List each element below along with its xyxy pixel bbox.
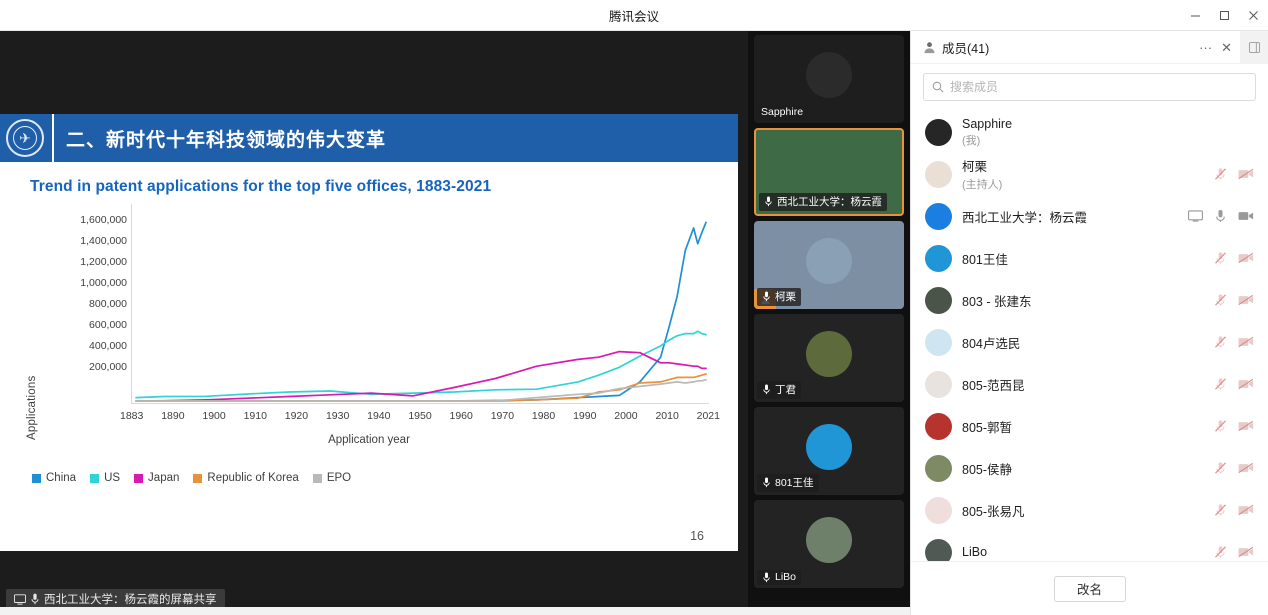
chart-figure: Applications 1,600,0001,400,0001,200,000…	[0, 204, 738, 514]
presentation-slide: ✈ 二、新时代十年科技领域的伟大变革 Trend in patent appli…	[0, 114, 738, 551]
participant-name: LiBo	[962, 545, 1204, 559]
chart-x-tick: 1900	[202, 410, 225, 422]
participant-name: Sapphire	[962, 117, 1244, 131]
dock-panel-icon	[1249, 42, 1260, 53]
participant-name: 805-范西昆	[962, 375, 1204, 394]
participant-status-icons	[1188, 209, 1254, 223]
legend-label: Japan	[148, 472, 179, 484]
minimize-button[interactable]	[1181, 0, 1210, 31]
video-tile-label: 西北工业大学：杨云霞	[777, 194, 882, 209]
screen-share-icon[interactable]	[1188, 210, 1203, 222]
participant-status-icons	[1214, 377, 1254, 391]
avatar	[806, 146, 852, 192]
microphone-icon[interactable]	[1214, 209, 1227, 223]
university-logo-icon: ✈	[6, 119, 44, 157]
participant-name-block: 803 - 张建东	[962, 291, 1204, 310]
camera-icon[interactable]	[1238, 210, 1254, 222]
video-tile-label: LiBo	[775, 571, 796, 583]
legend-item: EPO	[313, 472, 351, 484]
chart-y-tick: 200,000	[89, 357, 127, 378]
legend-item: US	[90, 472, 120, 484]
participant-row[interactable]: 805-张易凡	[911, 489, 1268, 531]
legend-label: Republic of Korea	[207, 472, 298, 484]
legend-item: Japan	[134, 472, 179, 484]
microphone-icon	[761, 572, 772, 583]
participant-status-icons	[1214, 503, 1254, 517]
legend-swatch-icon	[134, 474, 143, 483]
chart-y-tick: 1,600,000	[80, 210, 127, 231]
camera-muted-icon[interactable]	[1238, 420, 1254, 432]
microphone-muted-icon[interactable]	[1214, 167, 1227, 181]
camera-muted-icon[interactable]	[1238, 336, 1254, 348]
legend-swatch-icon	[193, 474, 202, 483]
participants-panel-footer: 改名	[911, 561, 1268, 615]
chart-x-tick: 1910	[244, 410, 267, 422]
participant-name: 805-郭暂	[962, 417, 1204, 436]
participant-status-icons	[1214, 167, 1254, 181]
camera-muted-icon[interactable]	[1238, 378, 1254, 390]
legend-label: EPO	[327, 472, 351, 484]
legend-swatch-icon	[313, 474, 322, 483]
window-controls	[1181, 0, 1268, 31]
legend-swatch-icon	[90, 474, 99, 483]
video-tile[interactable]: 柯栗	[754, 221, 904, 309]
microphone-icon	[761, 384, 772, 395]
slide-header-divider	[52, 114, 54, 162]
avatar	[925, 413, 952, 440]
chart-lines	[132, 204, 710, 403]
video-tile-name: Sapphire	[757, 105, 808, 120]
participant-name: 805-侯静	[962, 459, 1204, 478]
shared-screen-stage[interactable]: ✈ 二、新时代十年科技领域的伟大变革 Trend in patent appli…	[0, 31, 748, 615]
chart-y-tick: 400,000	[89, 336, 127, 357]
chart-y-tick: 1,200,000	[80, 252, 127, 273]
screen-share-icon	[14, 594, 26, 605]
participant-row[interactable]: 805-范西昆	[911, 363, 1268, 405]
chart-y-ticks: 1,600,0001,400,0001,200,0001,000,000800,…	[52, 210, 127, 378]
chart-x-tick: 1990	[573, 410, 596, 422]
participant-role: (主持人)	[962, 176, 1204, 192]
avatar	[925, 161, 952, 188]
chart-y-axis-label: Applications	[26, 376, 38, 440]
avatar	[925, 371, 952, 398]
participant-name-block: 805-张易凡	[962, 501, 1204, 520]
chart-series-line	[136, 352, 706, 401]
participants-panel-title: 成员(41)	[942, 38, 989, 57]
chart-plot-area	[131, 204, 709, 404]
avatar	[806, 517, 852, 563]
search-box[interactable]	[923, 73, 1256, 101]
chart-x-tick: 1883	[120, 410, 143, 422]
slide-page-number: 16	[690, 529, 704, 543]
avatar	[806, 238, 852, 284]
chart-y-tick: 1,400,000	[80, 231, 127, 252]
legend-label: US	[104, 472, 120, 484]
chart-x-tick: 2010	[655, 410, 678, 422]
video-tile[interactable]: LiBo	[754, 500, 904, 588]
slide-header: ✈ 二、新时代十年科技领域的伟大变革	[0, 114, 738, 162]
video-tile[interactable]: 801王佳	[754, 407, 904, 495]
chart-series-line	[136, 374, 706, 401]
close-button[interactable]	[1239, 0, 1268, 31]
participant-name: 西北工业大学：杨云霞	[962, 207, 1178, 226]
chart-y-tick: 1,000,000	[80, 273, 127, 294]
window-title: 腾讯会议	[609, 6, 659, 25]
microphone-icon	[31, 593, 39, 605]
microphone-icon	[761, 291, 772, 302]
chart-x-tick: 1950	[408, 410, 431, 422]
participant-row[interactable]: 801王佳	[911, 237, 1268, 279]
camera-muted-icon[interactable]	[1238, 504, 1254, 516]
microphone-muted-icon[interactable]	[1214, 503, 1227, 517]
microphone-muted-icon[interactable]	[1214, 251, 1227, 265]
chart-x-tick: 1980	[532, 410, 555, 422]
participants-panel-actions: ··· ✕	[1199, 41, 1232, 54]
chart-legend: ChinaUSJapanRepublic of KoreaEPO	[32, 472, 351, 484]
chart-x-tick: 1960	[450, 410, 473, 422]
participant-name-block: 西北工业大学：杨云霞	[962, 207, 1178, 226]
chart-x-axis-label: Application year	[0, 434, 738, 446]
participants-search-row	[911, 64, 1268, 107]
avatar	[806, 52, 852, 98]
video-tile-name: 丁君	[757, 381, 801, 399]
video-tile-name: 801王佳	[757, 474, 819, 492]
chart-y-tick: 800,000	[89, 294, 127, 315]
window-titlebar: 腾讯会议	[0, 0, 1268, 31]
participant-name: 804卢选民	[962, 333, 1204, 352]
people-icon	[923, 41, 936, 54]
microphone-muted-icon[interactable]	[1214, 377, 1227, 391]
chart-x-tick: 1970	[491, 410, 514, 422]
participant-name: 柯栗	[962, 156, 1204, 175]
participant-name-block: 801王佳	[962, 249, 1204, 268]
slide-header-title: 二、新时代十年科技领域的伟大变革	[66, 125, 386, 152]
participant-name: 803 - 张建东	[962, 291, 1204, 310]
search-input[interactable]	[950, 80, 1247, 94]
more-options-icon[interactable]: ···	[1199, 41, 1212, 54]
camera-muted-icon[interactable]	[1238, 462, 1254, 474]
participant-name-block: LiBo	[962, 545, 1204, 559]
legend-label: China	[46, 472, 76, 484]
microphone-muted-icon[interactable]	[1214, 293, 1227, 307]
participants-panel-header: 成员(41) ··· ✕	[911, 31, 1268, 64]
bottom-strip	[0, 607, 910, 615]
microphone-icon	[761, 477, 772, 488]
video-tile-name: 西北工业大学：杨云霞	[759, 193, 887, 211]
microphone-muted-icon[interactable]	[1214, 419, 1227, 433]
maximize-button[interactable]	[1210, 0, 1239, 31]
participant-row[interactable]: Sapphire(我)	[911, 111, 1268, 153]
avatar	[925, 539, 952, 562]
participant-row[interactable]: 805-侯静	[911, 447, 1268, 489]
participant-name: 801王佳	[962, 249, 1204, 268]
avatar	[806, 424, 852, 470]
avatar	[925, 119, 952, 146]
video-tile-name: 柯栗	[757, 288, 801, 306]
chart-x-tick: 1940	[367, 410, 390, 422]
panel-dock-button[interactable]	[1240, 31, 1268, 64]
avatar	[925, 245, 952, 272]
video-tile[interactable]: 丁君	[754, 314, 904, 402]
participant-row[interactable]: 西北工业大学：杨云霞	[911, 195, 1268, 237]
video-tile[interactable]: 西北工业大学：杨云霞	[754, 128, 904, 216]
participant-status-icons	[1214, 251, 1254, 265]
participant-status-icons	[1214, 335, 1254, 349]
participant-name-block: 805-侯静	[962, 459, 1204, 478]
participant-row[interactable]: 803 - 张建东	[911, 279, 1268, 321]
participant-status-icons	[1214, 293, 1254, 307]
video-tile-label: 801王佳	[775, 475, 814, 490]
chart-x-tick: 1930	[326, 410, 349, 422]
camera-muted-icon[interactable]	[1238, 294, 1254, 306]
chart-x-tick: 2021	[697, 410, 720, 422]
participant-row[interactable]: 804卢选民	[911, 321, 1268, 363]
video-tile-name: LiBo	[757, 570, 801, 585]
microphone-muted-icon[interactable]	[1214, 335, 1227, 349]
avatar	[925, 455, 952, 482]
avatar	[925, 497, 952, 524]
screen-share-status-text: 西北工业大学：杨云霞的屏幕共享	[44, 591, 217, 607]
microphone-icon	[763, 196, 774, 207]
participant-row[interactable]: 柯栗(主持人)	[911, 153, 1268, 195]
participant-name-block: 805-范西昆	[962, 375, 1204, 394]
participant-name-block: 柯栗(主持人)	[962, 156, 1204, 192]
participant-status-icons	[1214, 419, 1254, 433]
camera-muted-icon[interactable]	[1238, 252, 1254, 264]
video-tile-label: 柯栗	[775, 289, 796, 304]
chart-series-line	[136, 380, 706, 401]
video-tile-label: Sapphire	[761, 106, 803, 118]
participant-name-block: 804卢选民	[962, 333, 1204, 352]
chart-series-line	[136, 222, 706, 401]
panel-close-icon[interactable]: ✕	[1221, 41, 1232, 54]
participants-panel: 成员(41) ··· ✕ Sapphire(我)柯栗(主持人)西	[910, 31, 1268, 615]
participant-name-block: 805-郭暂	[962, 417, 1204, 436]
participant-name: 805-张易凡	[962, 501, 1204, 520]
meeting-workspace: ✈ 二、新时代十年科技领域的伟大变革 Trend in patent appli…	[0, 31, 1268, 615]
screen-share-status-bar: 西北工业大学：杨云霞的屏幕共享	[6, 589, 225, 609]
chart-x-tick: 2000	[614, 410, 637, 422]
participant-row[interactable]: 805-郭暂	[911, 405, 1268, 447]
participant-status-icons	[1214, 545, 1254, 559]
participant-row[interactable]: LiBo	[911, 531, 1268, 561]
legend-swatch-icon	[32, 474, 41, 483]
rename-button[interactable]: 改名	[1054, 576, 1126, 602]
video-filmstrip[interactable]: Sapphire西北工业大学：杨云霞柯栗丁君801王佳LiBo	[748, 31, 910, 615]
avatar	[806, 331, 852, 377]
avatar	[925, 287, 952, 314]
video-tile-label: 丁君	[775, 382, 796, 397]
avatar	[925, 203, 952, 230]
microphone-muted-icon[interactable]	[1214, 545, 1227, 559]
chart-x-ticks: 1883189019001910192019301940195019601970…	[120, 410, 720, 422]
camera-muted-icon[interactable]	[1238, 168, 1254, 180]
chart-x-tick: 1890	[161, 410, 184, 422]
avatar	[925, 329, 952, 356]
chart-title: Trend in patent applications for the top…	[30, 178, 738, 196]
search-icon	[932, 81, 944, 93]
participant-role: (我)	[962, 132, 1244, 148]
participants-list[interactable]: Sapphire(我)柯栗(主持人)西北工业大学：杨云霞801王佳803 - 张…	[911, 107, 1268, 561]
video-tile[interactable]: Sapphire	[754, 35, 904, 123]
legend-item: Republic of Korea	[193, 472, 298, 484]
camera-muted-icon[interactable]	[1238, 546, 1254, 558]
legend-item: China	[32, 472, 76, 484]
chart-x-tick: 1920	[285, 410, 308, 422]
chart-y-tick: 600,000	[89, 315, 127, 336]
microphone-muted-icon[interactable]	[1214, 461, 1227, 475]
participant-name-block: Sapphire(我)	[962, 117, 1244, 148]
participant-status-icons	[1214, 461, 1254, 475]
